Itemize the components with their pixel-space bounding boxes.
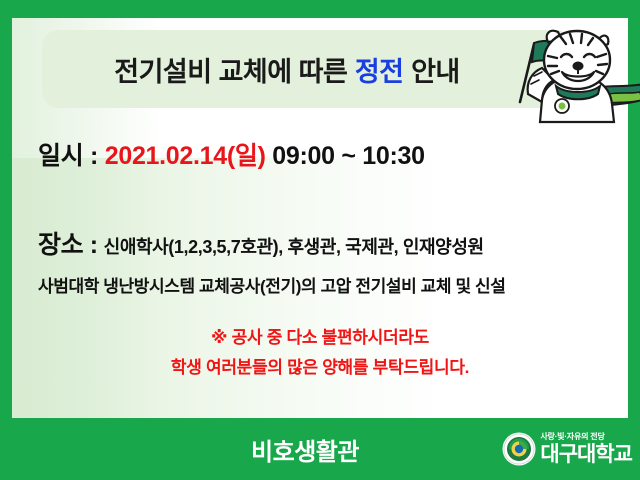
title-suffix: 안내 [411,50,460,89]
logo-university-name: 대구대학교 [540,444,632,465]
place-value: 신애학사(1,2,3,5,7호관), 후생관, 국제관, 인재양성원 [104,233,484,259]
footer-bar: 비호생활관 사랑·빛·자유의 전당 대구대학교 [0,418,640,480]
apology-line-2: 학생 여러분들의 많은 양해를 부탁드립니다. [12,353,628,383]
page-title: 전기설비 교체에 따른정전안내 [42,30,572,108]
title-banner: 전기설비 교체에 따른정전안내 [42,30,572,108]
logo-text-block: 사랑·빛·자유의 전당 대구대학교 [540,433,632,465]
apology-notice: ※ 공사 중 다소 불편하시더라도 학생 여러분들의 많은 양해를 부탁드립니다… [12,323,628,383]
apology-line-1: ※ 공사 중 다소 불편하시더라도 [12,323,628,353]
logo-tagline: 사랑·빛·자유의 전당 [540,433,604,441]
date-label: 일시 : [38,142,98,170]
title-highlight: 정전 [355,50,404,89]
place-label: 장소 : [38,225,98,261]
place-line: 장소 : 신애학사(1,2,3,5,7호관), 후생관, 국제관, 인재양성원 [38,225,484,261]
date-line: 일시 : 2021.02.14(일) 09:00 ~ 10:30 [38,136,425,172]
date-value: 2021.02.14(일) [105,142,266,170]
daegu-university-seal-icon [502,432,536,466]
poster-notice: 전기설비 교체에 따른정전안내 일시 : 2021.02.14(일) 09:00… [0,0,640,480]
university-logo: 사랑·빛·자유의 전당 대구대학교 [502,426,632,472]
date-time-range: 09:00 ~ 10:30 [272,142,424,170]
title-prefix: 전기설비 교체에 따른 [114,50,347,89]
place-detail: 사범대학 냉난방시스템 교체공사(전기)의 고압 전기설비 교체 및 신설 [38,272,506,297]
white-tiger-mascot-with-flag-icon [498,14,640,124]
